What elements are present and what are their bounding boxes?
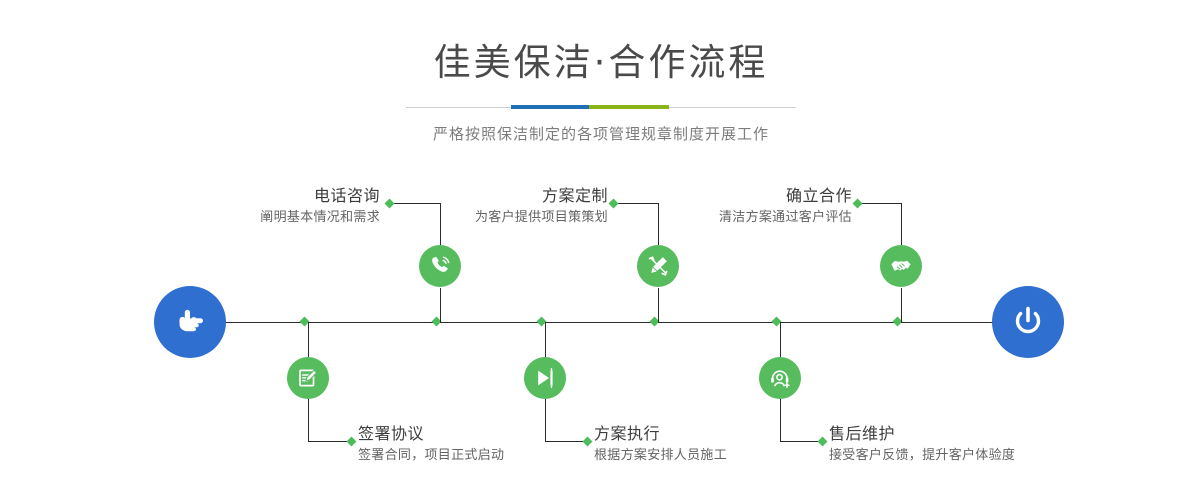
step-node-top-3[interactable]	[880, 245, 922, 287]
phone-ringing-icon	[428, 254, 452, 278]
divider-green-segment	[589, 105, 669, 109]
connector-vert-bot-2-upper	[545, 322, 546, 357]
title-divider	[406, 103, 796, 113]
connector-vert-top-3-lower	[901, 288, 902, 323]
connector-vert-bot-3-lower	[780, 399, 781, 441]
step-node-top-2[interactable]	[637, 245, 679, 287]
flow-diagram-page: 佳美保洁·合作流程 严格按照保洁制定的各项管理规章制度开展工作	[0, 0, 1202, 502]
handshake-icon	[889, 254, 913, 278]
step-node-bottom-2[interactable]	[524, 357, 566, 399]
step-node-bottom-3[interactable]	[759, 357, 801, 399]
connector-vert-bot-3-upper	[780, 322, 781, 357]
page-subtitle: 严格按照保洁制定的各项管理规章制度开展工作	[0, 123, 1202, 144]
page-header: 佳美保洁·合作流程 严格按照保洁制定的各项管理规章制度开展工作	[0, 0, 1202, 144]
process-flow: 电话咨询 阐明基本情况和需求 方案定制 为客户提供项目策策划	[0, 160, 1202, 502]
pointing-hand-icon	[170, 302, 210, 342]
connector-vert-top-2-lower	[658, 288, 659, 323]
headset-support-icon	[768, 366, 792, 390]
divider-blue-segment	[511, 105, 589, 109]
connector-vert-top-1-lower	[440, 288, 441, 323]
step-label-bottom-3: 售后维护 接受客户反馈，提升客户体验度	[829, 424, 1189, 465]
step-title: 售后维护	[829, 424, 1189, 444]
step-node-bottom-1[interactable]	[287, 357, 329, 399]
connector-horz-top-3	[859, 203, 902, 204]
connector-vert-bot-2-lower	[545, 399, 546, 441]
connector-horz-bot-1	[308, 441, 351, 442]
step-label-top-3: 确立合作 清洁方案通过客户评估	[530, 186, 852, 227]
label-marker-top-3	[853, 199, 863, 209]
play-next-icon	[533, 366, 557, 390]
document-edit-icon	[296, 366, 320, 390]
connector-horz-bot-3	[780, 441, 822, 442]
step-title: 确立合作	[530, 186, 852, 206]
step-desc: 清洁方案通过客户评估	[530, 210, 852, 227]
connector-vert-top-3-upper	[901, 203, 902, 245]
label-marker-bottom-1	[347, 437, 357, 447]
connector-vert-bot-1-lower	[308, 399, 309, 441]
flow-end-node[interactable]	[992, 286, 1064, 358]
step-desc: 接受客户反馈，提升客户体验度	[829, 448, 1189, 465]
step-node-top-1[interactable]	[419, 245, 461, 287]
page-title: 佳美保洁·合作流程	[0, 44, 1202, 81]
pencil-ruler-icon	[646, 254, 670, 278]
power-icon	[1008, 302, 1048, 342]
connector-horz-bot-2	[545, 441, 587, 442]
connector-vert-bot-1-upper	[308, 322, 309, 357]
flow-start-node[interactable]	[154, 286, 226, 358]
